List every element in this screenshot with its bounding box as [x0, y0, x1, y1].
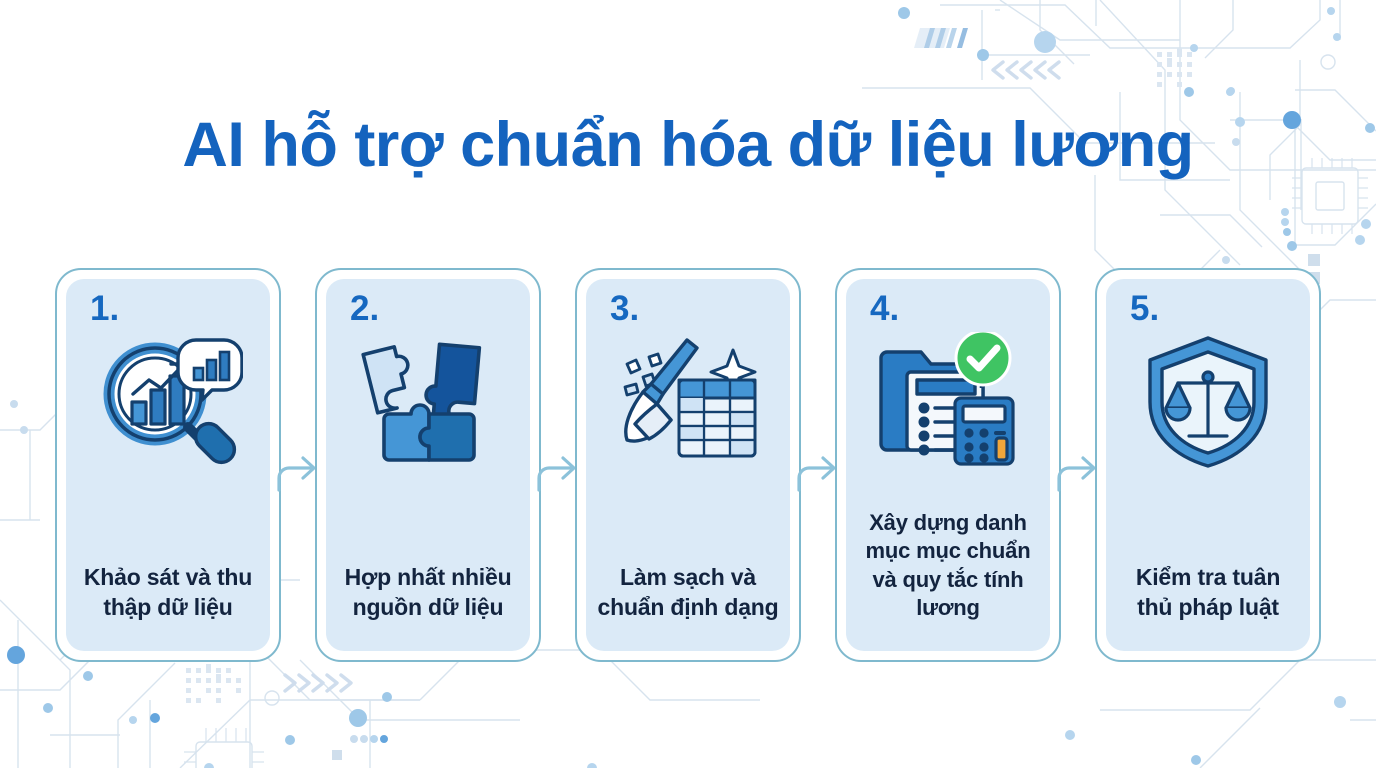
step-label-3: Làm sạch và chuẩn định dạng — [596, 562, 780, 623]
step-number-4: 4. — [870, 291, 899, 326]
step-card-1-body: 1. — [66, 279, 270, 651]
step-number-2: 2. — [350, 291, 379, 326]
step-label-4: Xây dựng danh mục mục chuẩn và quy tắc t… — [856, 509, 1040, 623]
puzzle-pieces-icon — [353, 332, 503, 472]
step-card-4-body: 4. — [846, 279, 1050, 651]
step-label-1: Khảo sát và thu thập dữ liệu — [76, 562, 260, 623]
step-number-5: 5. — [1130, 291, 1159, 326]
step-number-3: 3. — [610, 291, 639, 326]
step-number-1: 1. — [90, 291, 119, 326]
step-connector-1-2 — [281, 268, 315, 662]
page-title: AI hỗ trợ chuẩn hóa dữ liệu lương — [0, 112, 1376, 178]
step-connector-3-4 — [801, 268, 835, 662]
magnifier-chart-icon — [93, 332, 243, 472]
step-connector-2-3 — [541, 268, 575, 662]
step-connector-4-5 — [1061, 268, 1095, 662]
step-card-2-body: 2. — [326, 279, 530, 651]
step-card-5-body: 5. — [1106, 279, 1310, 651]
folder-checklist-calculator-icon — [873, 332, 1023, 472]
step-card-2[interactable]: 2. — [315, 268, 541, 662]
step-card-1[interactable]: 1. — [55, 268, 281, 662]
step-label-5: Kiểm tra tuân thủ pháp luật — [1116, 562, 1300, 623]
shield-scales-icon — [1133, 332, 1283, 472]
step-card-3-body: 3. — [586, 279, 790, 651]
steps-row: 1. — [55, 268, 1321, 664]
infographic-canvas: AI hỗ trợ chuẩn hóa dữ liệu lương 1. — [0, 0, 1376, 768]
broom-table-sparkle-icon — [613, 332, 763, 472]
step-label-2: Hợp nhất nhiều nguồn dữ liệu — [336, 562, 520, 623]
step-card-5[interactable]: 5. — [1095, 268, 1321, 662]
step-card-4[interactable]: 4. — [835, 268, 1061, 662]
step-card-3[interactable]: 3. — [575, 268, 801, 662]
